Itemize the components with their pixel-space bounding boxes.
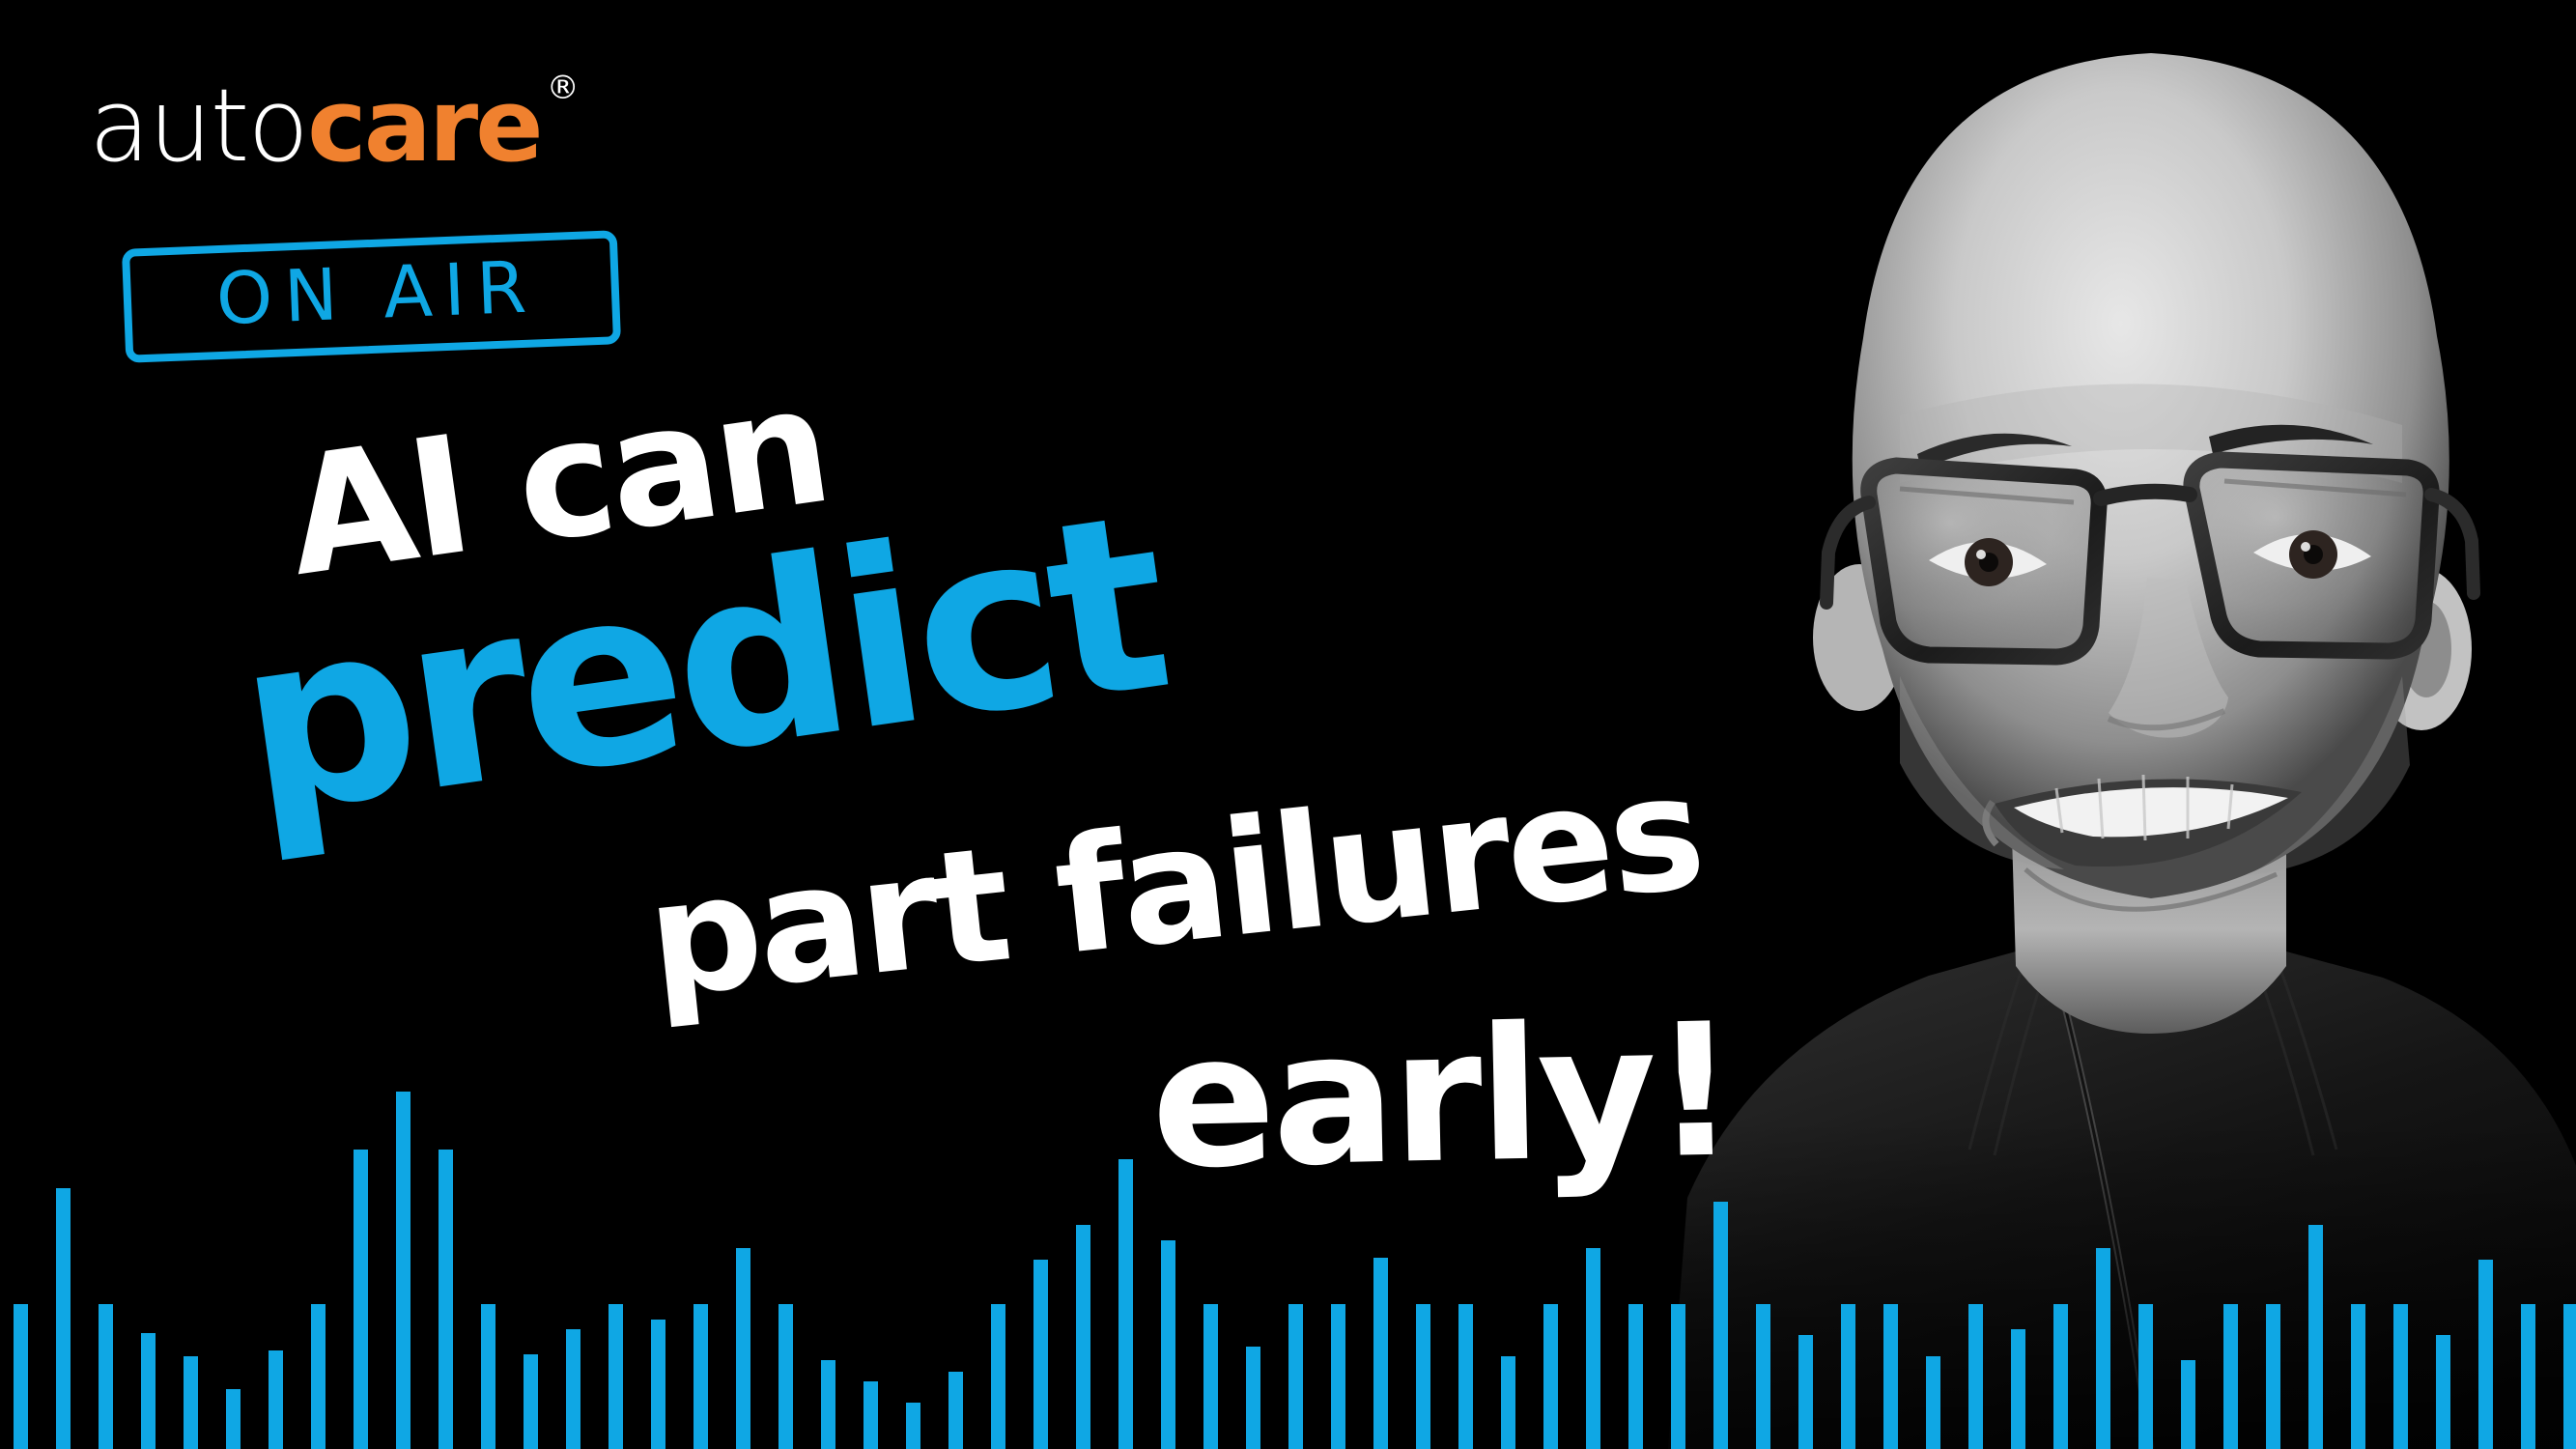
waveform-bar bbox=[1246, 1347, 1260, 1449]
waveform-bar bbox=[481, 1304, 495, 1449]
waveform-bar bbox=[269, 1350, 283, 1449]
waveform-bar bbox=[184, 1356, 198, 1449]
waveform-bar bbox=[778, 1304, 793, 1449]
logo-wordmark: autocare® bbox=[89, 75, 541, 177]
portrait-illustration bbox=[1610, 0, 2576, 1449]
waveform-bar bbox=[1076, 1225, 1090, 1449]
logo-care-text: care bbox=[307, 67, 541, 185]
waveform-bar bbox=[99, 1304, 113, 1449]
waveform-bar bbox=[14, 1304, 28, 1449]
waveform-bar bbox=[694, 1304, 708, 1449]
logo-auto-text: auto bbox=[89, 67, 307, 185]
waveform-bar bbox=[566, 1329, 580, 1449]
waveform-bar bbox=[1586, 1248, 1600, 1449]
waveform-bar bbox=[991, 1304, 1005, 1449]
waveform-bar bbox=[1501, 1356, 1515, 1449]
waveform-bar bbox=[1543, 1304, 1558, 1449]
waveform-bar bbox=[1416, 1304, 1430, 1449]
autocare-logo[interactable]: autocare® bbox=[89, 75, 541, 177]
waveform-bar bbox=[56, 1188, 71, 1449]
waveform-bar bbox=[1161, 1240, 1175, 1449]
waveform-bar bbox=[1331, 1304, 1345, 1449]
waveform-bar bbox=[311, 1304, 326, 1449]
host-portrait bbox=[1610, 0, 2576, 1449]
waveform-bar bbox=[1203, 1304, 1218, 1449]
waveform-bar bbox=[1033, 1260, 1048, 1449]
waveform-bar bbox=[1458, 1304, 1473, 1449]
waveform-bar bbox=[821, 1360, 835, 1449]
waveform-bar bbox=[524, 1354, 538, 1449]
waveform-bar bbox=[226, 1389, 241, 1449]
waveform-bar bbox=[609, 1304, 623, 1449]
headline-line-1: AI can bbox=[279, 370, 835, 593]
waveform-bar bbox=[141, 1333, 156, 1449]
waveform-bar bbox=[396, 1092, 410, 1449]
waveform-bar bbox=[651, 1320, 665, 1449]
headline-group: AI can predict part failures early! bbox=[0, 0, 1739, 1449]
waveform-bar bbox=[439, 1150, 453, 1449]
waveform-bar bbox=[1118, 1159, 1133, 1449]
waveform-bar bbox=[906, 1403, 920, 1449]
waveform-bar bbox=[948, 1372, 963, 1449]
waveform-bar bbox=[1373, 1258, 1388, 1449]
headline-line-2: predict bbox=[228, 491, 1174, 841]
on-air-badge: ON AIR bbox=[122, 230, 621, 363]
waveform-bar bbox=[736, 1248, 750, 1449]
headline-line-3: part failures bbox=[641, 759, 1707, 1014]
waveform-bar bbox=[863, 1381, 878, 1449]
waveform-bar bbox=[354, 1150, 368, 1449]
waveform-bar bbox=[1288, 1304, 1303, 1449]
on-air-label: ON AIR bbox=[204, 251, 540, 335]
podcast-thumbnail: autocare® ON AIR AI can predict part fai… bbox=[0, 0, 2576, 1449]
registered-trademark-icon: ® bbox=[547, 71, 579, 104]
